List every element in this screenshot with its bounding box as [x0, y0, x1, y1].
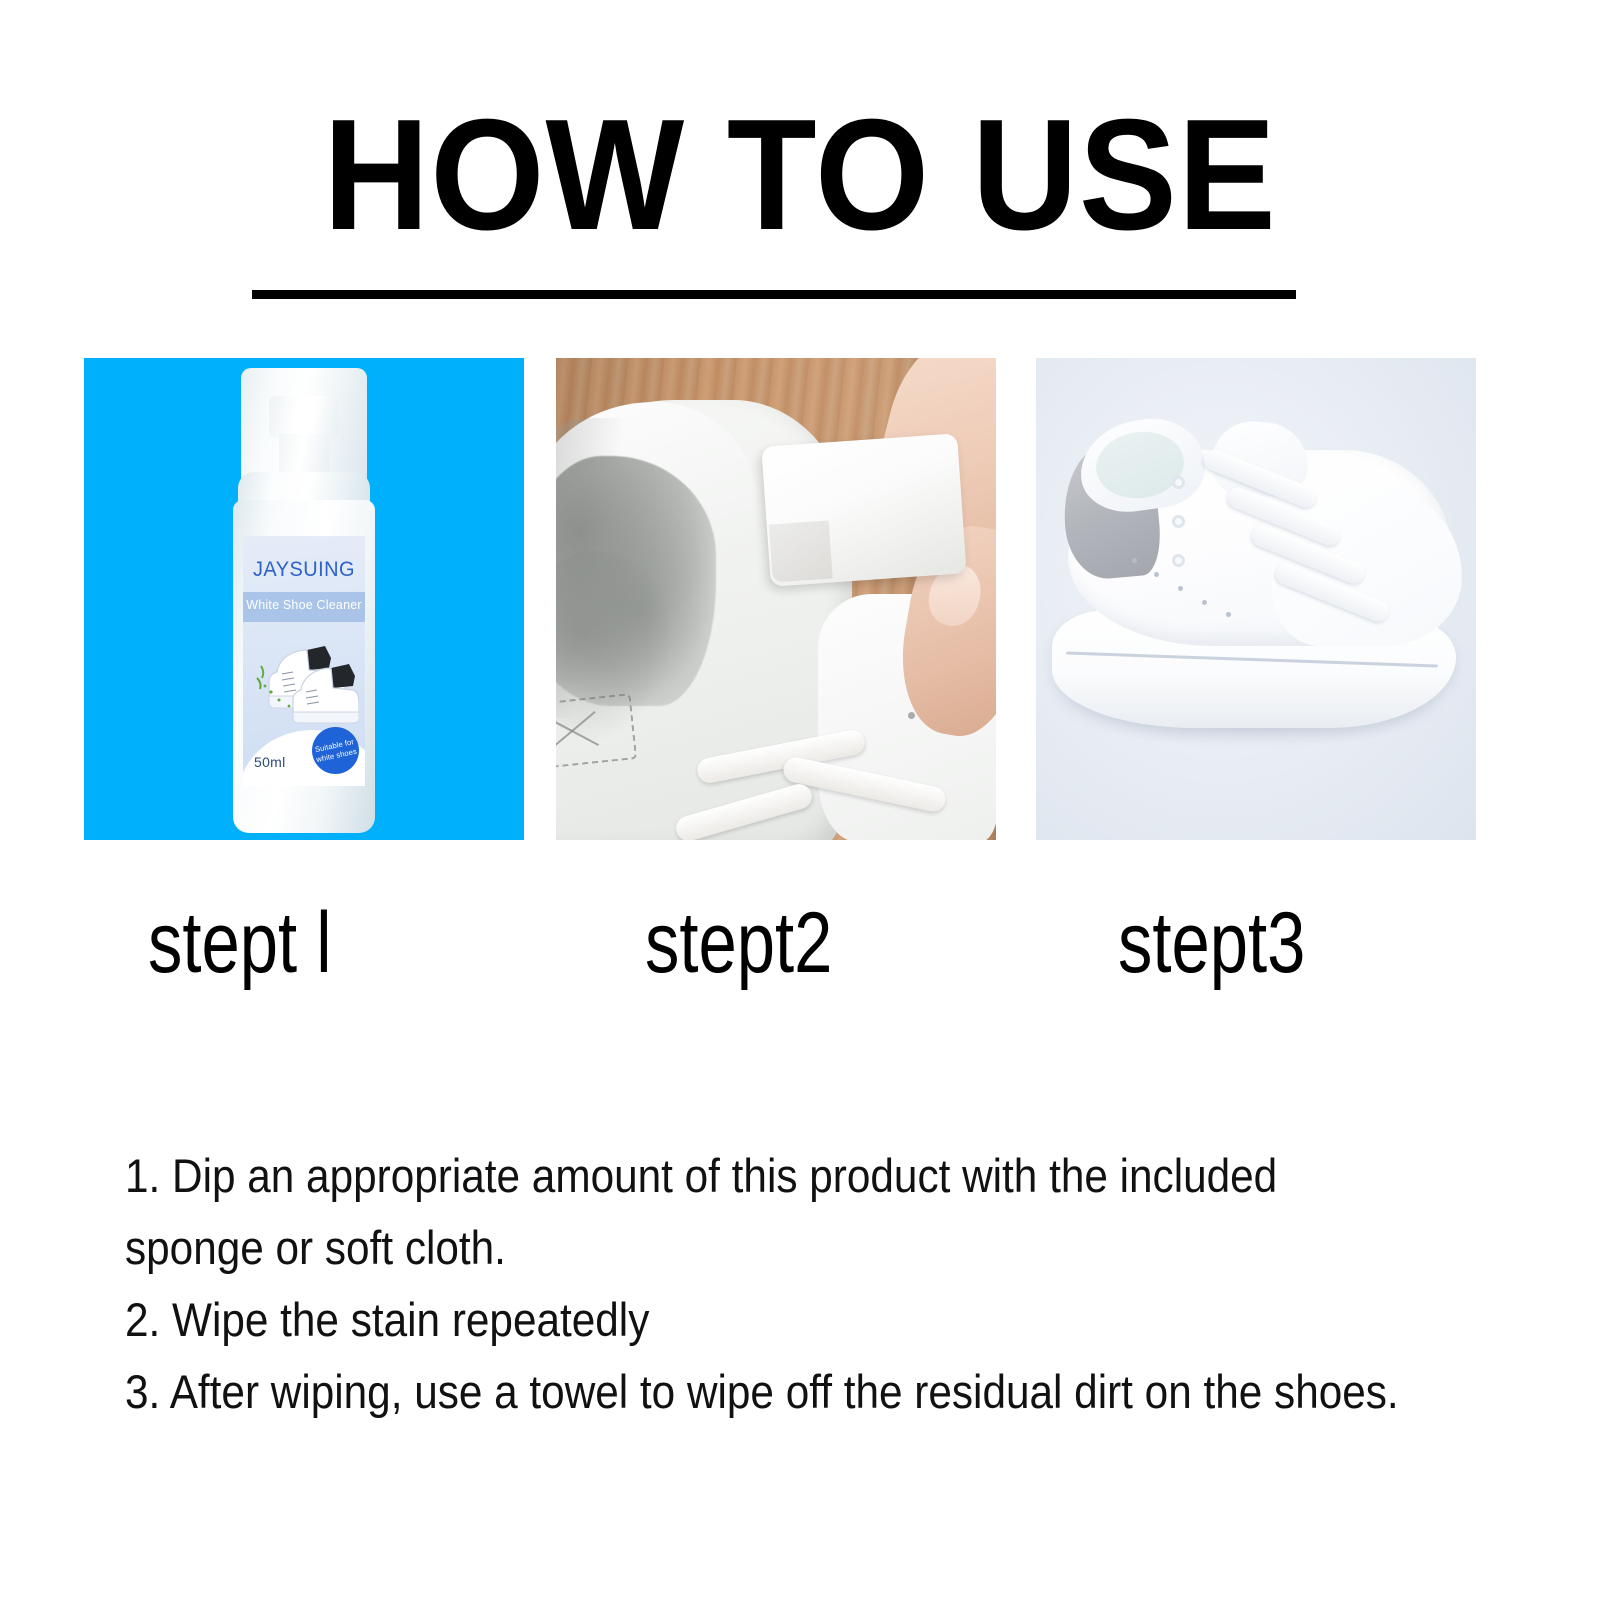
step-3-image [1036, 358, 1476, 840]
sneakers-illustration-icon [249, 628, 359, 724]
bottle-pump-neck [279, 434, 329, 474]
sneaker-cross-stitch [556, 701, 605, 759]
sponge-contact-face [769, 520, 833, 582]
instruction-line-3: 3. After wiping, use a towel to wipe off… [125, 1356, 1403, 1428]
how-to-use-page: HOW TO USE JAYSUING White Shoe Cleaner [0, 0, 1600, 1600]
brand-name: JAYSUING [246, 558, 362, 582]
step-1-image: JAYSUING White Shoe Cleaner [84, 358, 524, 840]
step-2-label: stept2 [645, 893, 832, 993]
melamine-sponge [761, 433, 966, 586]
step-labels-row: stept l stept2 stept3 [0, 893, 1600, 993]
volume-text: 50ml [254, 754, 286, 770]
page-title: HOW TO USE [56, 96, 1544, 254]
step-3-label: stept3 [1118, 893, 1305, 993]
product-name: White Shoe Cleaner [243, 598, 365, 612]
instruction-line-1: 1. Dip an appropriate amount of this pro… [125, 1140, 1403, 1284]
bottle-label: JAYSUING White Shoe Cleaner [243, 536, 365, 786]
title-underline-rule [252, 290, 1296, 299]
instruction-line-2: 2. Wipe the stain repeatedly [125, 1284, 1403, 1356]
cleaner-bottle: JAYSUING White Shoe Cleaner [225, 368, 383, 833]
instructions-block: 1. Dip an appropriate amount of this pro… [125, 1140, 1403, 1428]
step-images-row: JAYSUING White Shoe Cleaner [0, 358, 1600, 840]
sneaker-perforations [1128, 554, 1248, 624]
bottle-pump-head [269, 396, 339, 438]
step-1-label: stept l [148, 893, 332, 993]
step-2-image [556, 358, 996, 840]
